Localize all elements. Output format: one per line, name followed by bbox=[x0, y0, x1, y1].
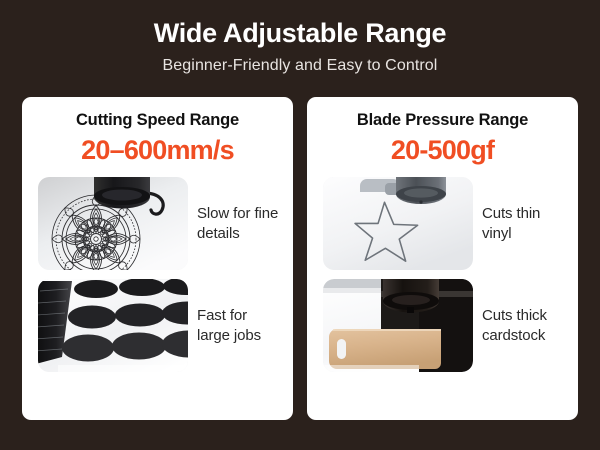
page-subtitle: Beginner-Friendly and Easy to Control bbox=[0, 57, 600, 75]
card-rows: Slow for fine details bbox=[32, 177, 283, 372]
feature-row: Cuts thin vinyl bbox=[317, 177, 568, 270]
card-cutting-speed: Cutting Speed Range 20–600mm/s bbox=[22, 97, 293, 420]
feature-row: Cuts thick cardstock bbox=[317, 279, 568, 372]
header: Wide Adjustable Range Beginner-Friendly … bbox=[0, 0, 600, 75]
star-vinyl-cut-thumbnail bbox=[323, 177, 473, 270]
cardstock-cut-thumbnail bbox=[323, 279, 473, 372]
page-title: Wide Adjustable Range bbox=[0, 18, 600, 49]
card-blade-pressure: Blade Pressure Range 20-500gf bbox=[307, 97, 578, 420]
card-value: 20–600mm/s bbox=[81, 135, 234, 166]
feature-caption: Cuts thin vinyl bbox=[482, 204, 568, 243]
feature-row: Slow for fine details bbox=[32, 177, 283, 270]
feature-caption: Slow for fine details bbox=[197, 204, 283, 243]
card-title: Cutting Speed Range bbox=[76, 111, 239, 130]
feature-row: Fast for large jobs bbox=[32, 279, 283, 372]
feature-caption: Cuts thick cardstock bbox=[482, 306, 568, 345]
card-title: Blade Pressure Range bbox=[357, 111, 528, 130]
card-value: 20-500gf bbox=[391, 135, 494, 166]
feature-caption: Fast for large jobs bbox=[197, 306, 283, 345]
circles-cut-thumbnail bbox=[38, 279, 188, 372]
card-rows: Cuts thin vinyl bbox=[317, 177, 568, 372]
mandala-cut-thumbnail bbox=[38, 177, 188, 270]
feature-cards: Cutting Speed Range 20–600mm/s bbox=[22, 97, 578, 420]
